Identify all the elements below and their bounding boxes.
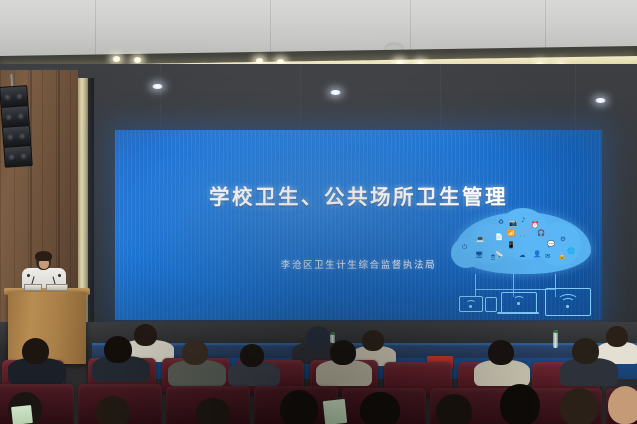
audience-head xyxy=(330,340,356,365)
cloud-computing-graphic: ⏻ 💻 🖥 🖱 ♻ ♪ 📷 📶 📄 📱 📡 🛒 ☁ 👤 🎧 💬 ✉ 🔒 🌐 ⚙ … xyxy=(445,208,597,316)
ceiling-downlight xyxy=(595,98,606,103)
audience-head xyxy=(608,386,637,424)
slide-title: 学校卫生、公共场所卫生管理 xyxy=(115,180,602,210)
laptop-icon: 💻 xyxy=(476,236,484,243)
presenter-hair xyxy=(35,251,52,261)
power-icon: ⏻ xyxy=(462,244,467,251)
phone-icon: 📱 xyxy=(507,242,515,249)
recycle-icon: ♻ xyxy=(498,219,504,226)
ceiling-downlight xyxy=(330,90,341,95)
audience-head xyxy=(360,392,400,424)
monitor-icon: 🖥 xyxy=(475,252,483,259)
wifi-icon: 📶 xyxy=(507,230,515,237)
microphone-head xyxy=(58,274,61,277)
audience-head xyxy=(96,396,130,424)
audience-head xyxy=(240,344,264,367)
audience-head xyxy=(104,336,132,363)
ceiling-spotlight xyxy=(133,57,142,63)
audience-head xyxy=(22,338,49,364)
chat-icon: 💬 xyxy=(547,241,555,248)
cart-icon: 🛒 xyxy=(519,230,527,237)
document-icon: 📄 xyxy=(495,234,503,241)
audience-head xyxy=(134,324,157,346)
audience-head xyxy=(572,338,599,364)
ceiling-spotlight xyxy=(112,56,121,62)
lock-icon: 🔒 xyxy=(558,253,566,260)
router-icon: 📡 xyxy=(495,252,503,259)
user-icon: 👤 xyxy=(533,251,541,258)
globe-icon: 🌐 xyxy=(567,248,575,255)
audience-head xyxy=(560,388,598,424)
handout-paper xyxy=(323,399,347,424)
audience-head xyxy=(196,398,230,424)
handout-paper xyxy=(11,405,33,424)
line-array-loudspeaker xyxy=(0,85,31,169)
headphones-icon: 🎧 xyxy=(537,230,545,237)
audience-head xyxy=(280,390,318,424)
audience-head xyxy=(362,330,384,351)
clock-icon: ⏰ xyxy=(531,222,539,229)
cloud-sync-icon: ☁ xyxy=(519,252,526,259)
projection-screen: 学校卫生、公共场所卫生管理 李沧区卫生计生综合监督执法局 ⏻ 💻 🖥 🖱 ♻ ♪… xyxy=(115,130,602,320)
audience-head xyxy=(500,384,540,424)
podium-document xyxy=(24,284,42,291)
microphone-head xyxy=(27,274,30,277)
audience-head xyxy=(606,326,628,347)
tablet-device xyxy=(485,297,497,312)
audience-head xyxy=(488,340,514,365)
music-note-icon: ♪ xyxy=(521,217,525,224)
audience-head xyxy=(306,326,330,348)
audience-head xyxy=(436,394,472,424)
ceiling-downlight xyxy=(152,84,163,89)
mail-icon: ✉ xyxy=(545,253,550,260)
water-bottle xyxy=(553,332,558,348)
gear-icon: ⚙ xyxy=(560,236,566,243)
audience-head xyxy=(182,340,208,365)
podium-document xyxy=(46,284,68,291)
camera-icon: 📷 xyxy=(509,220,517,227)
conference-hall-photo: 学校卫生、公共场所卫生管理 李沧区卫生计生综合监督执法局 ⏻ 💻 🖥 🖱 ♻ ♪… xyxy=(0,0,637,424)
